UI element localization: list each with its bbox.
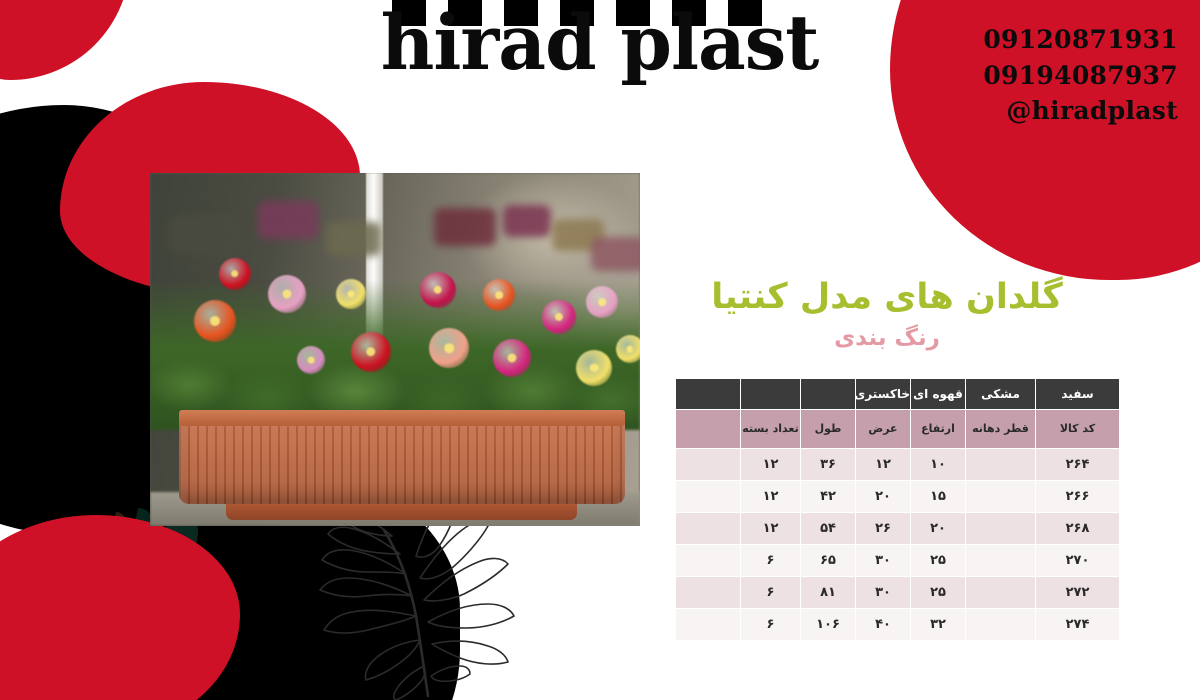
table-row: ۲۶۶۱۵۲۰۴۲۱۲ bbox=[676, 481, 1120, 513]
dimension-header-cell: طول bbox=[801, 410, 856, 449]
flower-bloom bbox=[297, 346, 325, 374]
cell-width-text: ۳۰ bbox=[875, 585, 891, 600]
background-planter bbox=[591, 237, 640, 271]
table-row: ۲۷۴۳۲۴۰۱۰۶۶ bbox=[676, 609, 1120, 641]
cell-product-code-text: ۲۶۸ bbox=[1066, 521, 1090, 536]
product-headings: گلدان های مدل کنتیا رنگ بندی bbox=[652, 276, 1122, 351]
poster-canvas: hirad plast 09120871931 09194087937 @hir… bbox=[0, 0, 1200, 700]
cell-height-text: ۲۰ bbox=[930, 521, 946, 536]
cell-length-text: ۳۶ bbox=[820, 457, 836, 472]
dimension-header-cell: کد کالا bbox=[1036, 410, 1120, 449]
planter-foot bbox=[226, 504, 577, 520]
table-row: ۲۶۴۱۰۱۲۳۶۱۲ bbox=[676, 449, 1120, 481]
background-planter bbox=[326, 222, 381, 256]
dimension-header-cell: قطر دهانه bbox=[966, 410, 1036, 449]
specification-table: سفیدمشکیقهوه ایخاکستریکد کالاقطر دهانهار… bbox=[675, 378, 1120, 641]
product-photo bbox=[150, 173, 640, 526]
color-header-blank bbox=[741, 379, 801, 410]
dimension-header-cell: تعداد بسته bbox=[741, 410, 801, 449]
table-row-colors: سفیدمشکیقهوه ایخاکستری bbox=[676, 379, 1120, 410]
dimension-header-cell-text: عرض bbox=[868, 422, 897, 435]
cell-width: ۲۰ bbox=[856, 481, 911, 513]
planter-rim bbox=[179, 410, 625, 426]
cell-width: ۱۲ bbox=[856, 449, 911, 481]
cell-pack-count-text: ۶ bbox=[767, 617, 775, 632]
cell-product-code: ۲۷۲ bbox=[1036, 577, 1120, 609]
color-header-cell-text: سفید bbox=[1061, 387, 1093, 401]
contact-phone-2[interactable]: 09194087937 bbox=[983, 58, 1178, 94]
cell-pack-count: ۶ bbox=[741, 545, 801, 577]
decorative-blob-red-top-left bbox=[0, 0, 130, 80]
cell-height: ۳۲ bbox=[911, 609, 966, 641]
specification-table-container: سفیدمشکیقهوه ایخاکستریکد کالاقطر دهانهار… bbox=[676, 378, 1120, 641]
dimension-header-cell-text: تعداد بسته bbox=[742, 422, 798, 435]
color-header-cell-text: خاکستری bbox=[854, 387, 910, 401]
contact-block: 09120871931 09194087937 @hiradplast bbox=[983, 22, 1178, 129]
cell-product-code-text: ۲۶۶ bbox=[1066, 489, 1090, 504]
cell-length: ۸۱ bbox=[801, 577, 856, 609]
cell-height-text: ۱۵ bbox=[930, 489, 946, 504]
cell-height: ۲۰ bbox=[911, 513, 966, 545]
cell-width-text: ۴۰ bbox=[875, 617, 891, 632]
background-planter bbox=[258, 201, 318, 239]
contact-instagram-handle[interactable]: @hiradplast bbox=[983, 93, 1178, 129]
background-planter bbox=[170, 215, 240, 255]
flower-bloom bbox=[483, 279, 515, 311]
cell-width: ۴۰ bbox=[856, 609, 911, 641]
cell-pack-count: ۱۲ bbox=[741, 481, 801, 513]
color-header-cell: سفید bbox=[1036, 379, 1120, 410]
cell-width-text: ۲۰ bbox=[875, 489, 891, 504]
decorative-dash-strip bbox=[392, 0, 762, 26]
color-header-blank bbox=[676, 379, 741, 410]
monstera-leaf-illustration bbox=[300, 500, 570, 700]
flower-bloom bbox=[586, 286, 618, 318]
flower-bloom bbox=[576, 350, 612, 386]
color-header-blank bbox=[801, 379, 856, 410]
cell-length: ۱۰۶ bbox=[801, 609, 856, 641]
cell-pack-count: ۶ bbox=[741, 609, 801, 641]
cell-width-text: ۲۶ bbox=[875, 521, 891, 536]
cell-pack-count-text: ۶ bbox=[767, 553, 775, 568]
cell-product-code: ۲۷۰ bbox=[1036, 545, 1120, 577]
color-header-cell-text: قهوه ای bbox=[913, 387, 963, 401]
table-row: ۲۷۰۲۵۳۰۶۵۶ bbox=[676, 545, 1120, 577]
cell-height-text: ۲۵ bbox=[930, 585, 946, 600]
cell-pack-count: ۶ bbox=[741, 577, 801, 609]
cell-product-code-text: ۲۷۰ bbox=[1066, 553, 1090, 568]
cell-mouth-diameter bbox=[966, 481, 1036, 513]
planter-body bbox=[179, 410, 625, 504]
flower-bloom bbox=[493, 339, 531, 377]
cell-spacer bbox=[676, 513, 741, 545]
cell-width-text: ۱۲ bbox=[875, 457, 891, 472]
cell-product-code: ۲۶۶ bbox=[1036, 481, 1120, 513]
cell-length-text: ۱۰۶ bbox=[816, 617, 840, 632]
cell-mouth-diameter bbox=[966, 609, 1036, 641]
cell-pack-count-text: ۱۲ bbox=[763, 457, 779, 472]
cell-spacer bbox=[676, 449, 741, 481]
photo-planter-box bbox=[160, 402, 634, 520]
flower-bloom bbox=[351, 332, 391, 372]
page-title: گلدان های مدل کنتیا bbox=[652, 276, 1122, 319]
contact-phone-1[interactable]: 09120871931 bbox=[983, 22, 1178, 58]
cell-length: ۶۵ bbox=[801, 545, 856, 577]
flower-bloom bbox=[219, 258, 251, 290]
cell-mouth-diameter bbox=[966, 513, 1036, 545]
cell-height-text: ۱۰ bbox=[930, 457, 946, 472]
flower-bloom bbox=[268, 275, 306, 313]
cell-pack-count: ۱۲ bbox=[741, 513, 801, 545]
cell-height: ۲۵ bbox=[911, 577, 966, 609]
cell-pack-count-text: ۱۲ bbox=[763, 521, 779, 536]
color-header-cell: مشکی bbox=[966, 379, 1036, 410]
color-header-cell: قهوه ای bbox=[911, 379, 966, 410]
dimension-header-cell: ارتفاع bbox=[911, 410, 966, 449]
cell-product-code-text: ۲۶۴ bbox=[1066, 457, 1090, 472]
cell-height: ۲۵ bbox=[911, 545, 966, 577]
cell-product-code: ۲۶۸ bbox=[1036, 513, 1120, 545]
color-header-cell-text: مشکی bbox=[981, 387, 1020, 401]
flower-bloom bbox=[420, 272, 456, 308]
cell-spacer bbox=[676, 609, 741, 641]
flower-bloom bbox=[194, 300, 236, 342]
flower-bloom bbox=[542, 300, 576, 334]
cell-width-text: ۳۰ bbox=[875, 553, 891, 568]
cell-mouth-diameter bbox=[966, 577, 1036, 609]
cell-length-text: ۶۵ bbox=[820, 553, 836, 568]
cell-spacer bbox=[676, 481, 741, 513]
cell-length-text: ۴۲ bbox=[820, 489, 836, 504]
table-row-dimension-headers: کد کالاقطر دهانهارتفاععرضطولتعداد بسته bbox=[676, 410, 1120, 449]
color-header-cell: خاکستری bbox=[856, 379, 911, 410]
cell-width: ۳۰ bbox=[856, 545, 911, 577]
table-row: ۲۶۸۲۰۲۶۵۴۱۲ bbox=[676, 513, 1120, 545]
cell-height-text: ۲۵ bbox=[930, 553, 946, 568]
cell-height: ۱۵ bbox=[911, 481, 966, 513]
flower-bloom bbox=[336, 279, 366, 309]
cell-height: ۱۰ bbox=[911, 449, 966, 481]
cell-spacer bbox=[676, 577, 741, 609]
cell-mouth-diameter bbox=[966, 449, 1036, 481]
cell-width: ۲۶ bbox=[856, 513, 911, 545]
cell-length: ۴۲ bbox=[801, 481, 856, 513]
background-planter bbox=[503, 205, 551, 237]
background-planter bbox=[434, 208, 496, 246]
dimension-header-cell-text: کد کالا bbox=[1060, 422, 1095, 435]
cell-length: ۵۴ bbox=[801, 513, 856, 545]
cell-pack-count-text: ۱۲ bbox=[763, 489, 779, 504]
cell-pack-count: ۱۲ bbox=[741, 449, 801, 481]
dimension-header-blank bbox=[676, 410, 741, 449]
cell-length: ۳۶ bbox=[801, 449, 856, 481]
cell-product-code: ۲۷۴ bbox=[1036, 609, 1120, 641]
dimension-header-cell-text: طول bbox=[815, 422, 842, 435]
table-row: ۲۷۲۲۵۳۰۸۱۶ bbox=[676, 577, 1120, 609]
cell-length-text: ۵۴ bbox=[820, 521, 836, 536]
dimension-header-cell-text: ارتفاع bbox=[921, 422, 955, 435]
cell-mouth-diameter bbox=[966, 545, 1036, 577]
dimension-header-cell: عرض bbox=[856, 410, 911, 449]
dimension-header-cell-text: قطر دهانه bbox=[972, 422, 1029, 435]
page-subtitle: رنگ بندی bbox=[652, 325, 1122, 351]
cell-height-text: ۳۲ bbox=[930, 617, 946, 632]
cell-spacer bbox=[676, 545, 741, 577]
cell-pack-count-text: ۶ bbox=[767, 585, 775, 600]
cell-product-code-text: ۲۷۲ bbox=[1066, 585, 1090, 600]
cell-product-code: ۲۶۴ bbox=[1036, 449, 1120, 481]
cell-length-text: ۸۱ bbox=[820, 585, 836, 600]
cell-product-code-text: ۲۷۴ bbox=[1066, 617, 1090, 632]
cell-width: ۳۰ bbox=[856, 577, 911, 609]
